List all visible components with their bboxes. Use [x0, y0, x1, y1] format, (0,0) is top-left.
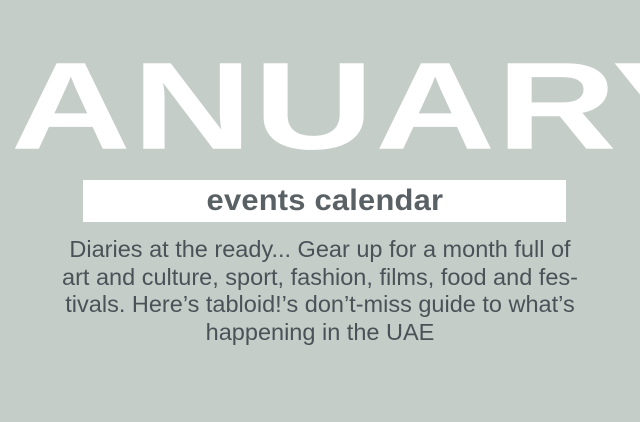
deck-paragraph: Diaries at the ready... Gear up for a mo… — [8, 236, 632, 346]
deck-line: art and culture, sport, fashion, films, … — [8, 264, 632, 292]
masthead: JANUARY — [0, 46, 640, 168]
deck-line: Diaries at the ready... Gear up for a mo… — [8, 236, 632, 264]
subtitle-label: events calendar — [206, 186, 443, 216]
deck-line: happening in the UAE — [8, 319, 632, 347]
subtitle-bar: events calendar — [83, 180, 566, 222]
deck-line: tivals. Here’s tabloid!’s don’t-miss gui… — [8, 291, 632, 319]
events-calendar-poster: JANUARY events calendar Diaries at the r… — [0, 0, 640, 422]
page-title: JANUARY — [0, 45, 640, 169]
